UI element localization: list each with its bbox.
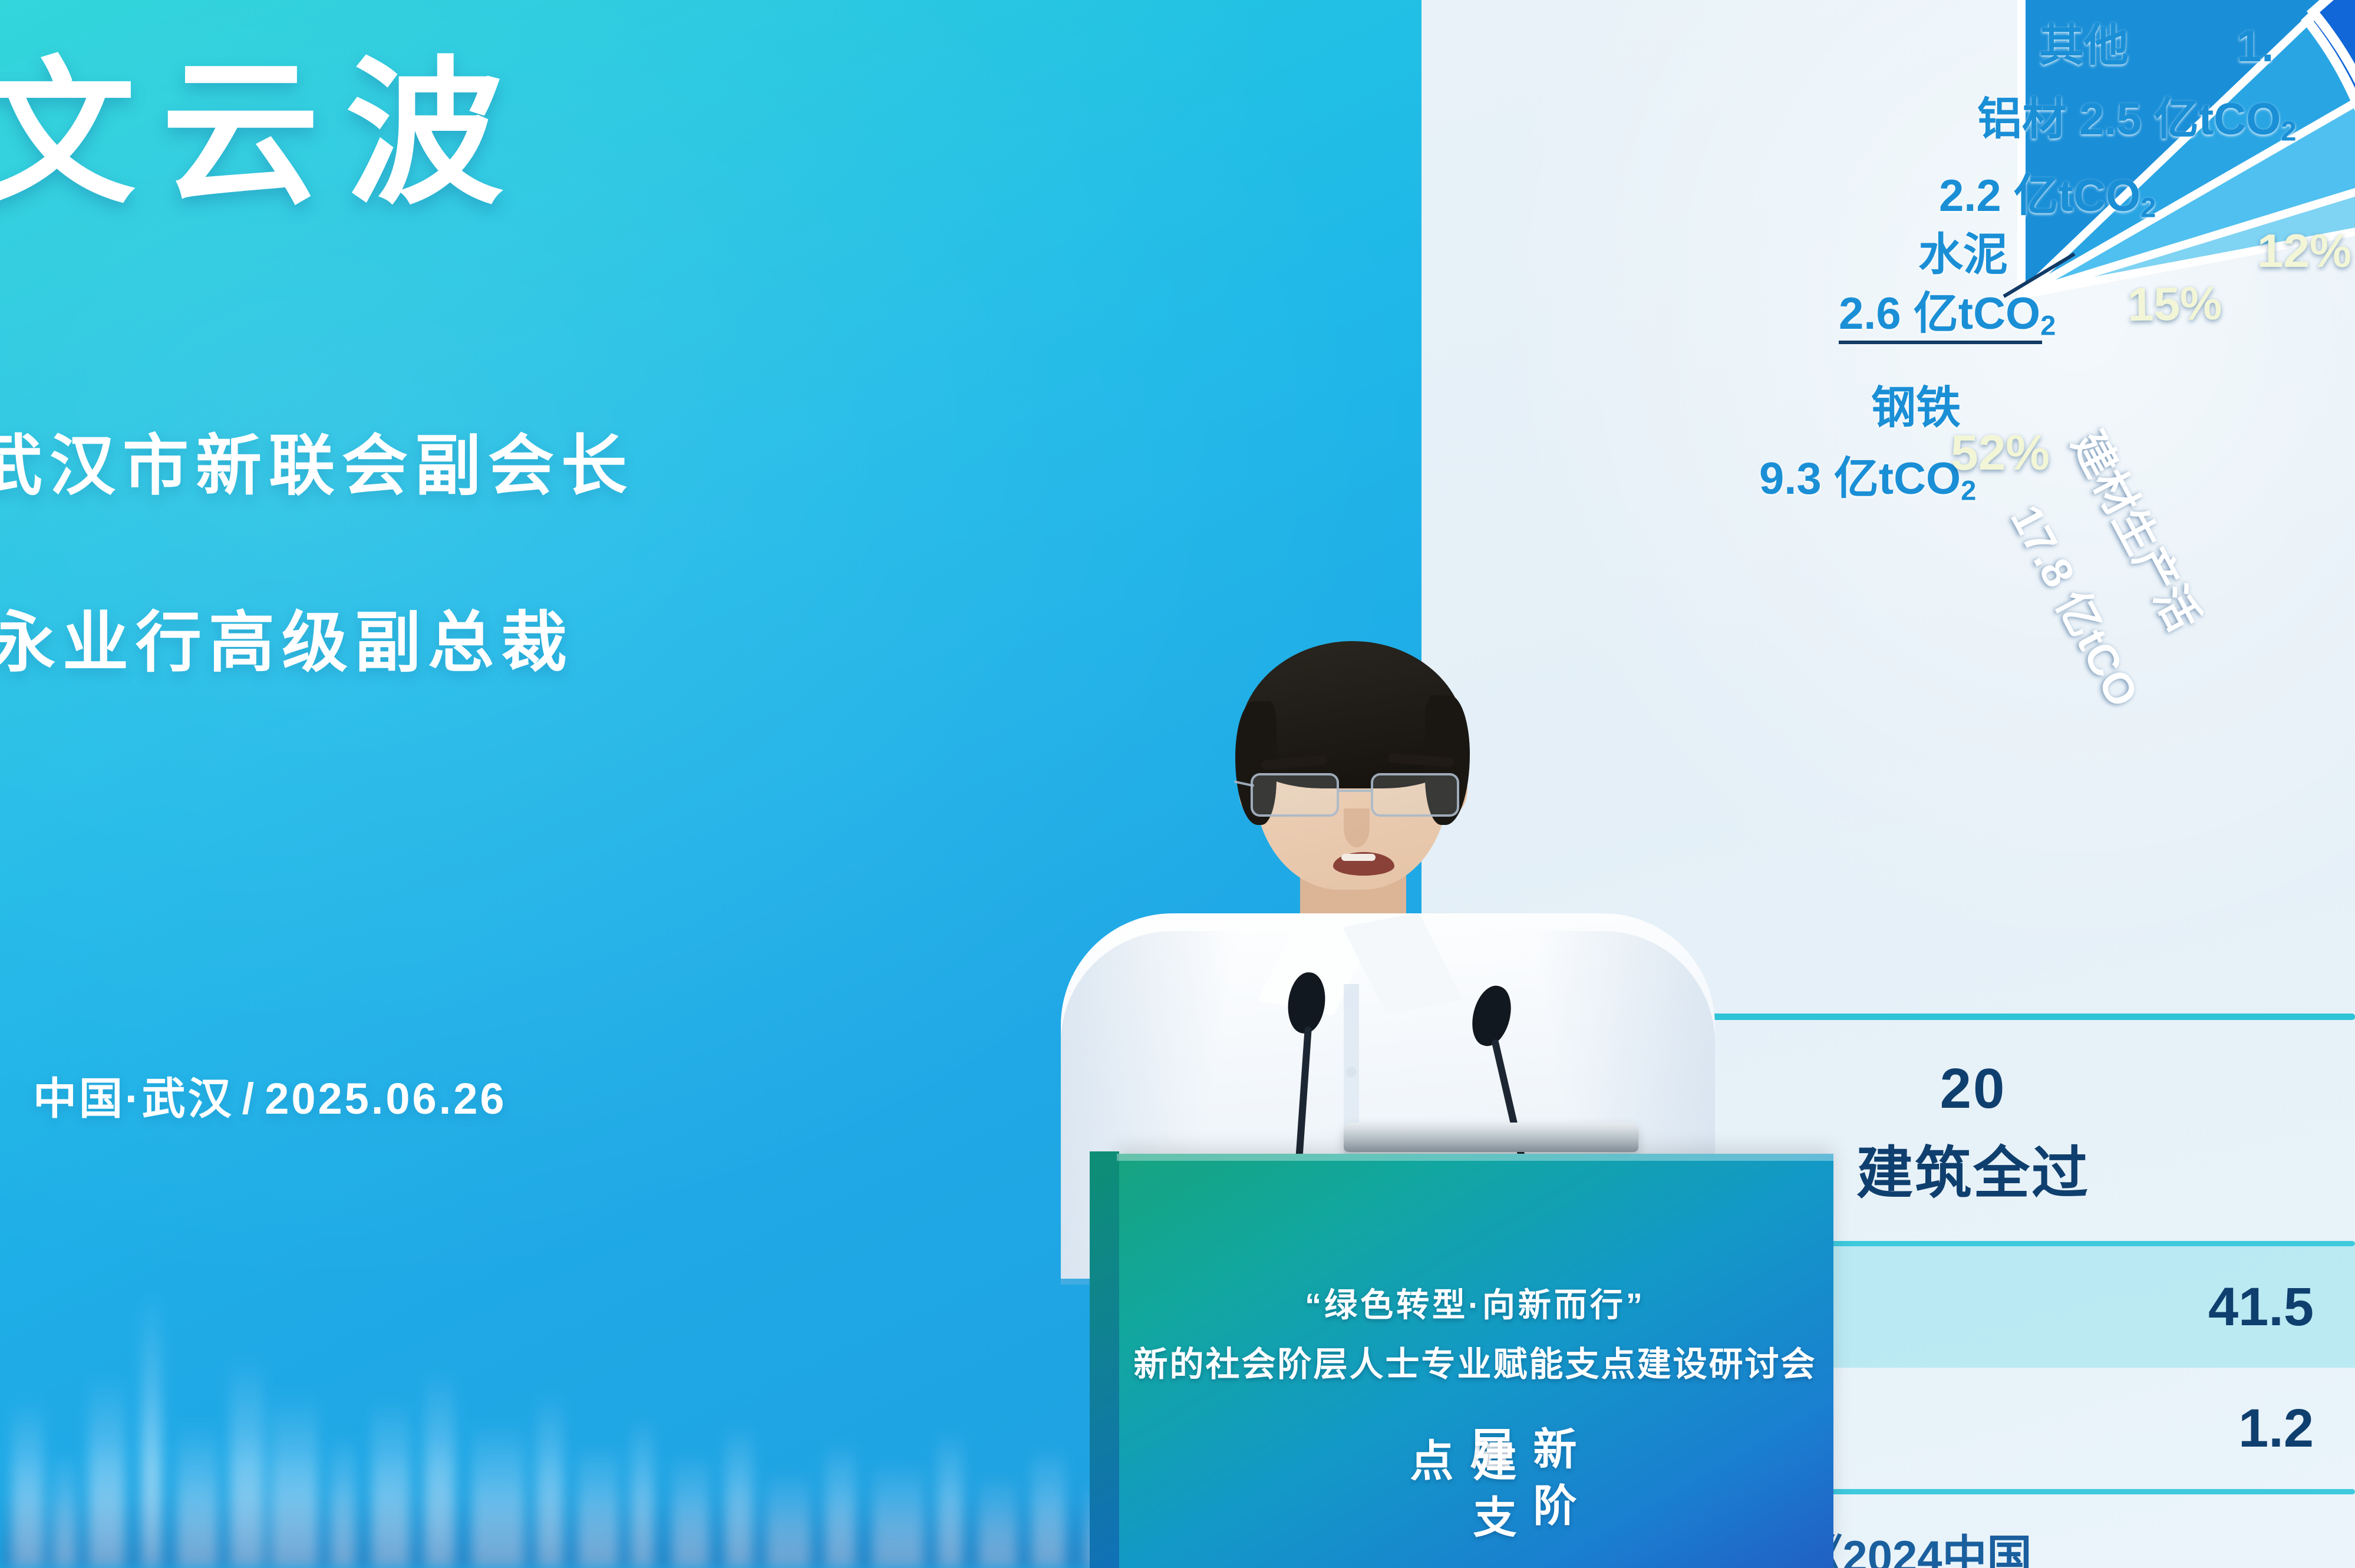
chart-label-aluminum-text: 铝材 2.5 亿tCO: [1977, 94, 2281, 144]
chart-label-cement-name: 水泥: [1918, 218, 2008, 283]
podium-slogan: “绿色转型·向新而行”: [1117, 1279, 1833, 1326]
chart-label-steel-name: 钢铁: [1871, 371, 1961, 436]
chart-label-secondary-value: 2.2 亿tCO2: [1939, 159, 2156, 224]
chart-percent-cement: 15%: [2127, 276, 2222, 332]
lens-right: [1371, 773, 1459, 817]
laptop: [1344, 1123, 1638, 1152]
chart-percent-steel: 52%: [1951, 424, 2050, 481]
event-date: 2025.06.26: [265, 1074, 506, 1123]
podium-event-name: 新的社会阶层人士专业赋能支点建设研讨会: [1117, 1336, 1833, 1386]
shirt-button: [1346, 1067, 1357, 1077]
event-location: 中国·武汉: [33, 1074, 234, 1123]
conference-photo-scene: 文云波 武汉市新联会副会长 永业行高级副总裁 中国·武汉/2025.06.26 …: [0, 0, 2355, 1568]
subscript-2: 2: [2281, 115, 2296, 146]
chart-label-steel-value: 9.3 亿tCO2: [1759, 442, 1976, 507]
mouth: [1333, 852, 1394, 876]
table-row-value: 1.2: [1992, 1398, 2331, 1460]
glasses-bridge: [1339, 790, 1372, 792]
chart-label-steel-text: 9.3 亿tCO: [1759, 454, 1961, 504]
chart-label-aluminum: 铝材 2.5 亿tCO2: [1977, 82, 2296, 147]
event-place-date: 中国·武汉/2025.06.26: [33, 1064, 507, 1127]
table-row-value: 41.5: [1992, 1276, 2331, 1338]
chart-label-cement-text: 2.6 亿tCO: [1839, 289, 2040, 339]
podium-top-highlight: [1117, 1154, 1833, 1161]
chart-label-secondary-text: 2.2 亿tCO: [1939, 171, 2140, 221]
separator: /: [234, 1074, 265, 1123]
subscript-2: 2: [2140, 192, 2156, 223]
podium-vertical-text-left: 建支点: [1397, 1438, 1523, 1568]
chart-percent-aluminum: 12%: [2257, 224, 2351, 278]
speaker-role-secondary: 永业行高级副总裁: [0, 589, 574, 685]
lens-left: [1251, 773, 1339, 817]
chart-leader-line: [1839, 341, 2042, 344]
subscript-2: 2: [2040, 309, 2056, 341]
speaker-name: 文云波: [0, 6, 529, 235]
chart-label-other-value: 1.: [2237, 21, 2274, 72]
nose: [1344, 808, 1370, 847]
chart-label-other-name: 其他: [2039, 9, 2129, 74]
teeth: [1341, 854, 1376, 861]
speaker-role-primary: 武汉市新联会副会长: [0, 412, 634, 508]
podium-side-edge: [1090, 1151, 1119, 1568]
